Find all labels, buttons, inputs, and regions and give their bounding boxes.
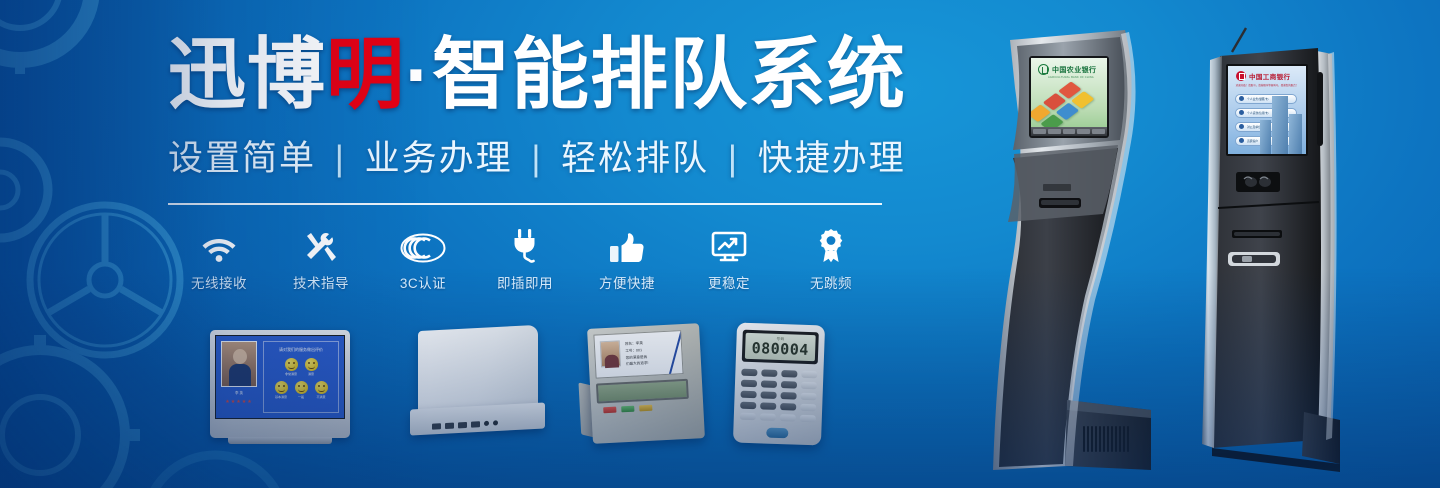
keypad-button[interactable]: [781, 370, 797, 378]
feature-label: 方便快捷: [599, 272, 655, 292]
menu-bullet-icon: [1239, 96, 1244, 101]
keypad-button[interactable]: [761, 369, 777, 377]
card-line-4: 们最大的追求!: [626, 360, 649, 368]
queue-notice: 欢迎光临！请取号，请按顺序等候叫号，感谢您的配合！: [1228, 84, 1306, 89]
rating-option-label: 非常满意: [285, 372, 298, 376]
rating-option[interactable]: 非常满意: [285, 358, 298, 376]
smiley-icon: [305, 358, 318, 371]
keypad-button[interactable]: [780, 414, 796, 422]
keypad-button[interactable]: [761, 380, 777, 388]
award-ribbon-icon: [817, 223, 845, 263]
feature-label: 更稳定: [708, 272, 750, 292]
product-desk-evaluator[interactable]: 姓名：李英 工号：001 您的满意是我 们最大的追求!: [590, 326, 702, 441]
keypad-button[interactable]: [800, 404, 816, 412]
employee-photo: [221, 341, 257, 387]
headline-block: 迅博明·智能排队系统 设置简单 | 业务办理 | 轻松排队 | 快捷办理: [168, 34, 908, 292]
bank-name: 中国工商银行: [1249, 71, 1290, 81]
subtitle-separator: |: [728, 139, 739, 178]
bank-logo-icon: [1038, 64, 1049, 75]
keypad-button[interactable]: [740, 402, 756, 410]
wifi-icon: [201, 223, 237, 263]
keypad-button[interactable]: [780, 392, 796, 400]
port-usb: [432, 423, 441, 429]
feature-item-technical-support: 技术指导: [270, 223, 372, 292]
key-very-satisfied[interactable]: [603, 407, 616, 414]
keypad-button-grid[interactable]: [740, 369, 818, 423]
keypad-button[interactable]: [740, 391, 756, 399]
feature-item-no-frequency-hopping: 无跳频: [780, 223, 882, 292]
menu-bullet-icon: [1239, 138, 1244, 143]
tools-icon: [304, 223, 338, 263]
bottom-button[interactable]: [1077, 129, 1090, 134]
product-monitor-evaluator[interactable]: 李 英 ★★★★★ 请对我们的服务做出评价 非常满意 满意: [210, 330, 350, 438]
monitor-bezel: 李 英 ★★★★★ 请对我们的服务做出评价 非常满意 满意: [210, 330, 350, 438]
title-part-2: 智能排队系统: [432, 30, 906, 118]
rating-option[interactable]: 一般: [295, 381, 308, 399]
kiosk-icbc[interactable]: 中国工商银行 欢迎光临！请取号，请按顺序等候叫号，感谢您的配合！ 个人业务(储蓄…: [1192, 20, 1367, 488]
monitor-screen: 李 英 ★★★★★ 请对我们的服务做出评价 非常满意 满意: [215, 335, 345, 419]
port-usb: [445, 423, 454, 429]
feature-label: 3C认证: [400, 272, 446, 292]
rating-stars: ★★★★★: [221, 399, 257, 405]
keypad-lcd: 号码 080004: [745, 333, 816, 361]
product-host-controller[interactable]: [410, 328, 545, 440]
subtitle-item-0: 设置简单: [168, 139, 316, 178]
feature-label: 即插即用: [497, 272, 553, 292]
keypad-button[interactable]: [801, 371, 817, 379]
screen-bottom-bar: [1031, 127, 1107, 136]
rating-option[interactable]: 基本满意: [275, 381, 288, 399]
bottom-button[interactable]: [1063, 129, 1076, 134]
evaluator-body: 姓名：李英 工号：001 您的满意是我 们最大的追求!: [587, 323, 705, 444]
bottom-button[interactable]: [1048, 129, 1061, 134]
menu-item-label: 贵宾客户: [1247, 139, 1258, 143]
subtitle-separator: |: [531, 139, 542, 178]
key-satisfied[interactable]: [621, 406, 634, 413]
keypad-button[interactable]: [801, 382, 817, 390]
divider-rule: [168, 203, 882, 205]
menu-bullet-icon: [1239, 110, 1244, 115]
smiley-icon: [295, 381, 308, 394]
keypad-button[interactable]: [741, 369, 757, 377]
bottom-button[interactable]: [1092, 129, 1105, 134]
employee-photo: [600, 340, 621, 367]
feature-item-more-stable: 更稳定: [678, 223, 780, 292]
subtitle-separator: |: [335, 139, 346, 178]
base-vent-grille: [1083, 426, 1129, 452]
keypad-button[interactable]: [740, 413, 756, 421]
product-keypad-terminal[interactable]: 号码 080004: [735, 324, 823, 444]
keypad-body: 号码 080004: [733, 323, 825, 446]
feature-label: 无跳频: [810, 272, 852, 292]
bank-logo-icon: [1236, 71, 1246, 81]
smiley-icon: [275, 381, 288, 394]
rating-option[interactable]: 不满意: [315, 381, 328, 399]
evaluator-lcd: [596, 379, 689, 404]
feature-label: 技术指导: [293, 272, 349, 292]
feature-label: 无线接收: [191, 272, 247, 292]
smiley-row-bottom: 基本满意 一般 不满意: [264, 381, 338, 399]
display-number: 080004: [751, 341, 809, 358]
keypad-button[interactable]: [760, 413, 776, 421]
keypad-button[interactable]: [760, 402, 776, 410]
evaluator-keys: [597, 402, 697, 413]
keypad-button[interactable]: [780, 403, 796, 411]
rating-option-label: 不满意: [315, 395, 328, 399]
subtitle-item-1: 业务办理: [365, 139, 513, 178]
employee-id-card: 姓名：李英 工号：001 您的满意是我 们最大的追求!: [593, 330, 683, 379]
ccc-certification-icon: [400, 223, 446, 263]
bank-header: 中国工商银行: [1228, 66, 1306, 81]
kiosk-agricultural-bank[interactable]: 中国农业银行 AGRICULTURAL BANK OF CHINA: [955, 18, 1185, 488]
employee-panel: 李 英 ★★★★★: [221, 341, 257, 413]
rating-option-label: 一般: [295, 395, 308, 399]
rating-option-label: 基本满意: [275, 395, 288, 399]
smiley-icon: [285, 358, 298, 371]
rating-option-label: 满意: [305, 372, 318, 376]
kiosk1-screen[interactable]: 中国农业银行 AGRICULTURAL BANK OF CHINA: [1031, 58, 1107, 136]
subtitle: 设置简单 | 业务办理 | 轻松排队 | 快捷办理: [168, 130, 908, 181]
icbc-ui: 中国工商银行 欢迎光临！请取号，请按顺序等候叫号，感谢您的配合！ 个人业务(储蓄…: [1228, 66, 1306, 154]
employee-name: 李 英: [221, 391, 257, 397]
rating-question: 请对我们的服务做出评价: [264, 347, 338, 353]
smiley-row-top: 非常满意 满意: [264, 358, 338, 376]
promo-banner: 迅博明·智能排队系统 设置简单 | 业务办理 | 轻松排队 | 快捷办理: [0, 0, 1440, 488]
feature-item-3c-certification: 3C认证: [372, 223, 474, 292]
subtitle-item-2: 轻松排队: [561, 139, 709, 178]
port-usb: [458, 422, 467, 428]
keypad-button[interactable]: [741, 380, 757, 388]
feature-item-wireless: 无线接收: [168, 223, 270, 292]
title-part-1: 迅博: [168, 30, 326, 118]
agricultural-bank-ui: 中国农业银行 AGRICULTURAL BANK OF CHINA: [1031, 58, 1107, 136]
smiley-icon: [315, 381, 328, 394]
port-power: [493, 420, 498, 425]
keypad-button[interactable]: [800, 393, 816, 401]
page-title: 迅博明·智能排队系统: [168, 34, 908, 114]
bank-header: 中国农业银行: [1031, 58, 1107, 75]
rating-panel: 请对我们的服务做出评价 非常满意 满意: [263, 341, 339, 413]
keypad-button[interactable]: [760, 391, 776, 399]
port-audio: [484, 421, 489, 426]
kiosk2-screen[interactable]: 中国工商银行 欢迎光临！请取号，请按顺序等候叫号，感谢您的配合！ 个人业务(储蓄…: [1228, 66, 1306, 154]
power-plug-icon: [509, 223, 541, 263]
product-showcase: 李 英 ★★★★★ 请对我们的服务做出评价 非常满意 满意: [195, 318, 895, 458]
thumbs-up-icon: [609, 223, 645, 263]
feature-list: 无线接收 技术指导: [168, 223, 882, 292]
feature-item-convenient: 方便快捷: [576, 223, 678, 292]
building-illustration: [1258, 92, 1304, 154]
keypad-enter-button[interactable]: [766, 428, 788, 439]
feature-item-plug-and-play: 即插即用: [474, 223, 576, 292]
monitor-stand: [228, 437, 332, 444]
card-text: 姓名：李英 工号：001 您的满意是我 们最大的追求!: [625, 340, 649, 368]
menu-bullet-icon: [1239, 124, 1244, 129]
bottom-button[interactable]: [1033, 129, 1046, 134]
port-lan: [471, 421, 480, 427]
title-dot-separator: ·: [405, 30, 432, 118]
key-unsatisfied[interactable]: [639, 405, 652, 412]
title-highlight: 明: [326, 30, 405, 118]
rating-option[interactable]: 满意: [305, 358, 318, 376]
keypad-button[interactable]: [800, 415, 816, 423]
keypad-button[interactable]: [781, 381, 797, 389]
keypad-lcd-frame: 号码 080004: [742, 330, 819, 365]
monitor-chart-icon: [711, 223, 747, 263]
subtitle-item-3: 快捷办理: [758, 139, 906, 178]
